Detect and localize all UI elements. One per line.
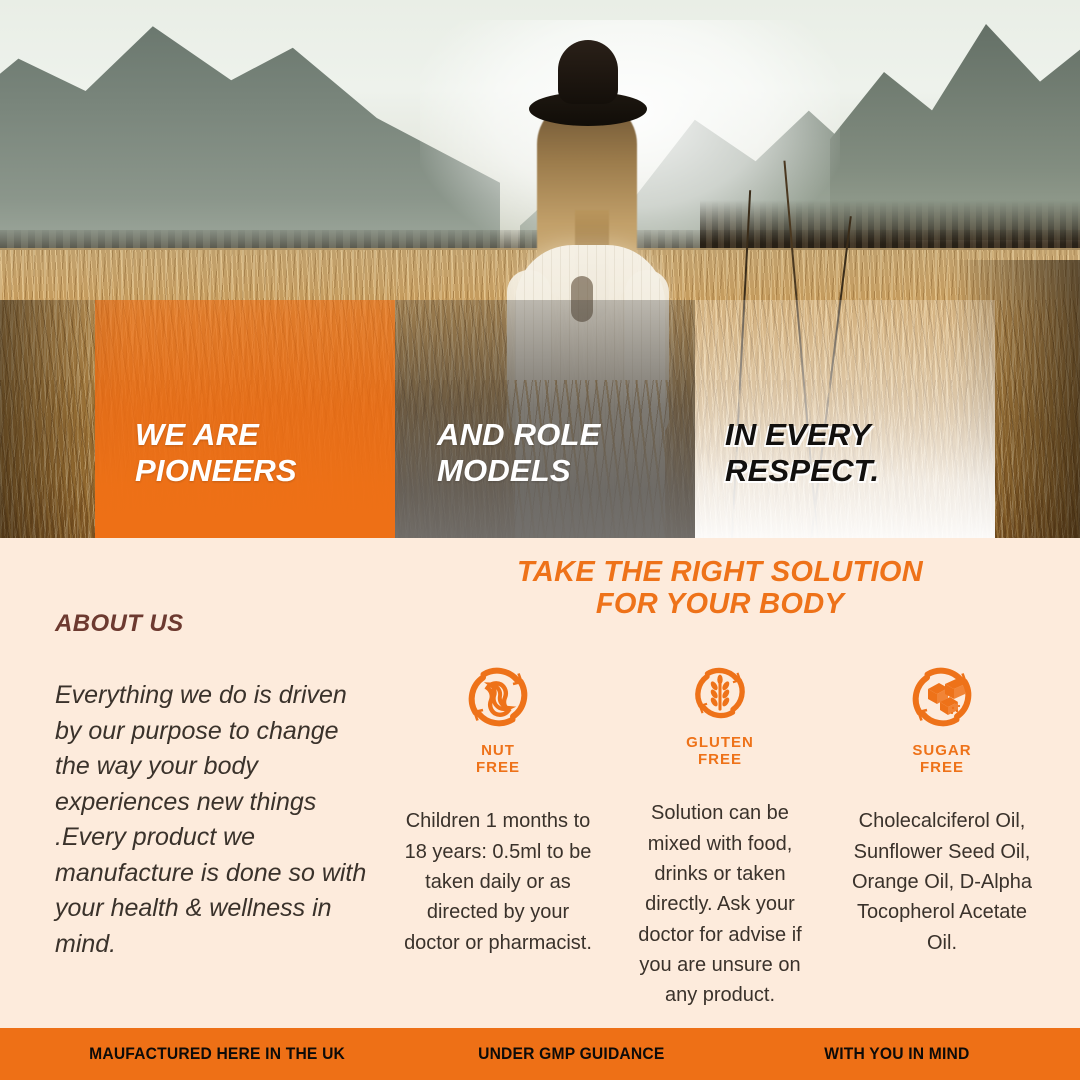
hat-crown xyxy=(558,40,618,104)
panel-line-2: MODELS xyxy=(437,453,681,490)
panel-and-role-models: AND ROLE MODELS xyxy=(395,300,695,538)
sugar-free-label: SUGAR FREE xyxy=(912,742,971,776)
about-us-heading: ABOUT US xyxy=(55,610,375,638)
footer-item-with-you-in-mind: WITH YOU IN MIND xyxy=(824,1044,969,1064)
sugar-free-text: Cholecalciferol Oil, Sunflower Seed Oil,… xyxy=(844,806,1040,958)
panel-line-1: AND ROLE xyxy=(437,417,681,454)
panel-line-2: RESPECT. xyxy=(725,453,981,490)
black-hat xyxy=(529,40,647,126)
column-nut-free: NUT FREE Children 1 months to 18 years: … xyxy=(400,659,596,1011)
badge-line-2: FREE xyxy=(912,759,971,776)
badge-line-1: SUGAR xyxy=(912,742,971,759)
sugar-free-badge: SUGAR FREE xyxy=(904,659,980,776)
gluten-free-text: Solution can be mixed with food, drinks … xyxy=(622,798,818,1011)
badge-line-1: NUT xyxy=(476,742,520,759)
hero-banner: WE ARE PIONEERS AND ROLE MODELS IN EVERY… xyxy=(0,0,1080,538)
panel-line-1: WE ARE xyxy=(135,417,381,454)
panel-we-are-pioneers: WE ARE PIONEERS xyxy=(95,300,395,538)
content-section: ABOUT US Everything we do is driven by o… xyxy=(0,538,1080,1028)
panel-in-every-respect: IN EVERY RESPECT. xyxy=(695,300,995,538)
panel-line-1: IN EVERY xyxy=(725,417,981,454)
solution-headline-line-2: FOR YOUR BODY xyxy=(400,588,1040,620)
badge-line-2: FREE xyxy=(686,751,754,768)
hero-panels: WE ARE PIONEERS AND ROLE MODELS IN EVERY… xyxy=(95,300,995,538)
panel-line-2: PIONEERS xyxy=(135,453,381,490)
about-us-body: Everything we do is driven by our purpos… xyxy=(55,678,375,962)
panel-text: WE ARE PIONEERS xyxy=(135,417,381,490)
nut-free-icon xyxy=(460,659,536,735)
solution-columns: NUT FREE Children 1 months to 18 years: … xyxy=(400,659,1040,1011)
badge-line-1: GLUTEN xyxy=(686,734,754,751)
gluten-free-icon xyxy=(686,659,754,727)
solution-headline: TAKE THE RIGHT SOLUTION FOR YOUR BODY xyxy=(400,556,1040,621)
solution-headline-line-1: TAKE THE RIGHT SOLUTION xyxy=(400,556,1040,588)
panel-text: AND ROLE MODELS xyxy=(437,417,681,490)
about-us-block: ABOUT US Everything we do is driven by o… xyxy=(55,610,375,962)
gluten-free-badge: GLUTEN FREE xyxy=(686,659,754,768)
sugar-free-icon xyxy=(904,659,980,735)
footer-item-gmp-guidance: UNDER GMP GUIDANCE xyxy=(478,1044,664,1064)
product-info-page: WE ARE PIONEERS AND ROLE MODELS IN EVERY… xyxy=(0,0,1080,1080)
column-sugar-free: SUGAR FREE Cholecalciferol Oil, Sunflowe… xyxy=(844,659,1040,1011)
footer-item-manufactured-uk: MAUFACTURED HERE IN THE UK xyxy=(89,1044,345,1064)
column-gluten-free: GLUTEN FREE Solution can be mixed with f… xyxy=(622,659,818,1011)
solution-block: TAKE THE RIGHT SOLUTION FOR YOUR BODY xyxy=(400,556,1040,1011)
nut-free-badge: NUT FREE xyxy=(460,659,536,776)
badge-line-2: FREE xyxy=(476,759,520,776)
footer-banner: MAUFACTURED HERE IN THE UK UNDER GMP GUI… xyxy=(0,1028,1080,1080)
nut-free-label: NUT FREE xyxy=(476,742,520,776)
panel-text: IN EVERY RESPECT. xyxy=(725,417,981,490)
gluten-free-label: GLUTEN FREE xyxy=(686,734,754,768)
nut-free-text: Children 1 months to 18 years: 0.5ml to … xyxy=(400,806,596,958)
